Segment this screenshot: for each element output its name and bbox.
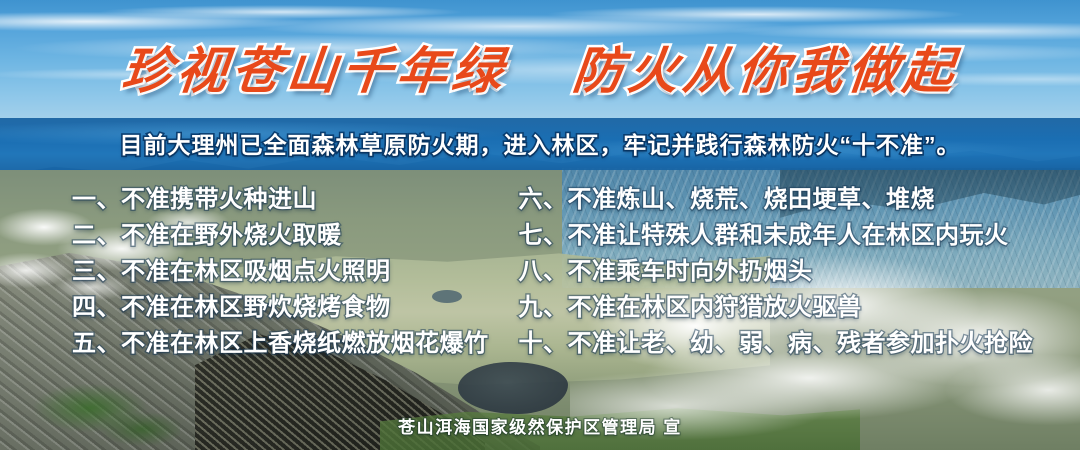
footer-credit: 苍山洱海国家级然保护区管理局 宣 [0, 413, 1080, 438]
rules-list: 一、不准携带火种进山 二、不准在野外烧火取暖 三、不准在林区吸烟点火照明 四、不… [0, 188, 1080, 400]
rules-column-left: 一、不准携带火种进山 二、不准在野外烧火取暖 三、不准在林区吸烟点火照明 四、不… [72, 188, 489, 400]
rule-item: 六、不准炼山、烧荒、烧田埂草、堆烧 [519, 188, 1034, 213]
rule-item: 四、不准在林区野炊烧烤食物 [72, 296, 489, 321]
rule-item: 二、不准在野外烧火取暖 [72, 224, 489, 249]
rule-item: 十、不准让老、幼、弱、病、残者参加扑火抢险 [519, 332, 1034, 357]
rule-item: 七、不准让特殊人群和未成年人在林区内玩火 [519, 224, 1034, 249]
headline-left: 珍视苍山千年绿 [119, 46, 509, 96]
subtitle-text: 目前大理州已全面森林草原防火期，进入林区，牢记并践行森林防火“十不准”。 [0, 126, 1080, 160]
rule-item: 一、不准携带火种进山 [72, 188, 489, 213]
rule-item: 九、不准在林区内狩猎放火驱兽 [519, 296, 1034, 321]
rules-column-right: 六、不准炼山、烧荒、烧田埂草、堆烧 七、不准让特殊人群和未成年人在林区内玩火 八… [489, 188, 1034, 400]
headline-row: 珍视苍山千年绿 防火从你我做起 [0, 28, 1080, 114]
forest-fire-prevention-poster: 珍视苍山千年绿 防火从你我做起 目前大理州已全面森林草原防火期，进入林区，牢记并… [0, 0, 1080, 450]
rule-item: 三、不准在林区吸烟点火照明 [72, 260, 489, 285]
rule-item: 八、不准乘车时向外扔烟头 [519, 260, 1034, 285]
rule-item: 五、不准在林区上香烧纸燃放烟花爆竹 [72, 332, 489, 357]
headline-right: 防火从你我做起 [570, 46, 960, 96]
